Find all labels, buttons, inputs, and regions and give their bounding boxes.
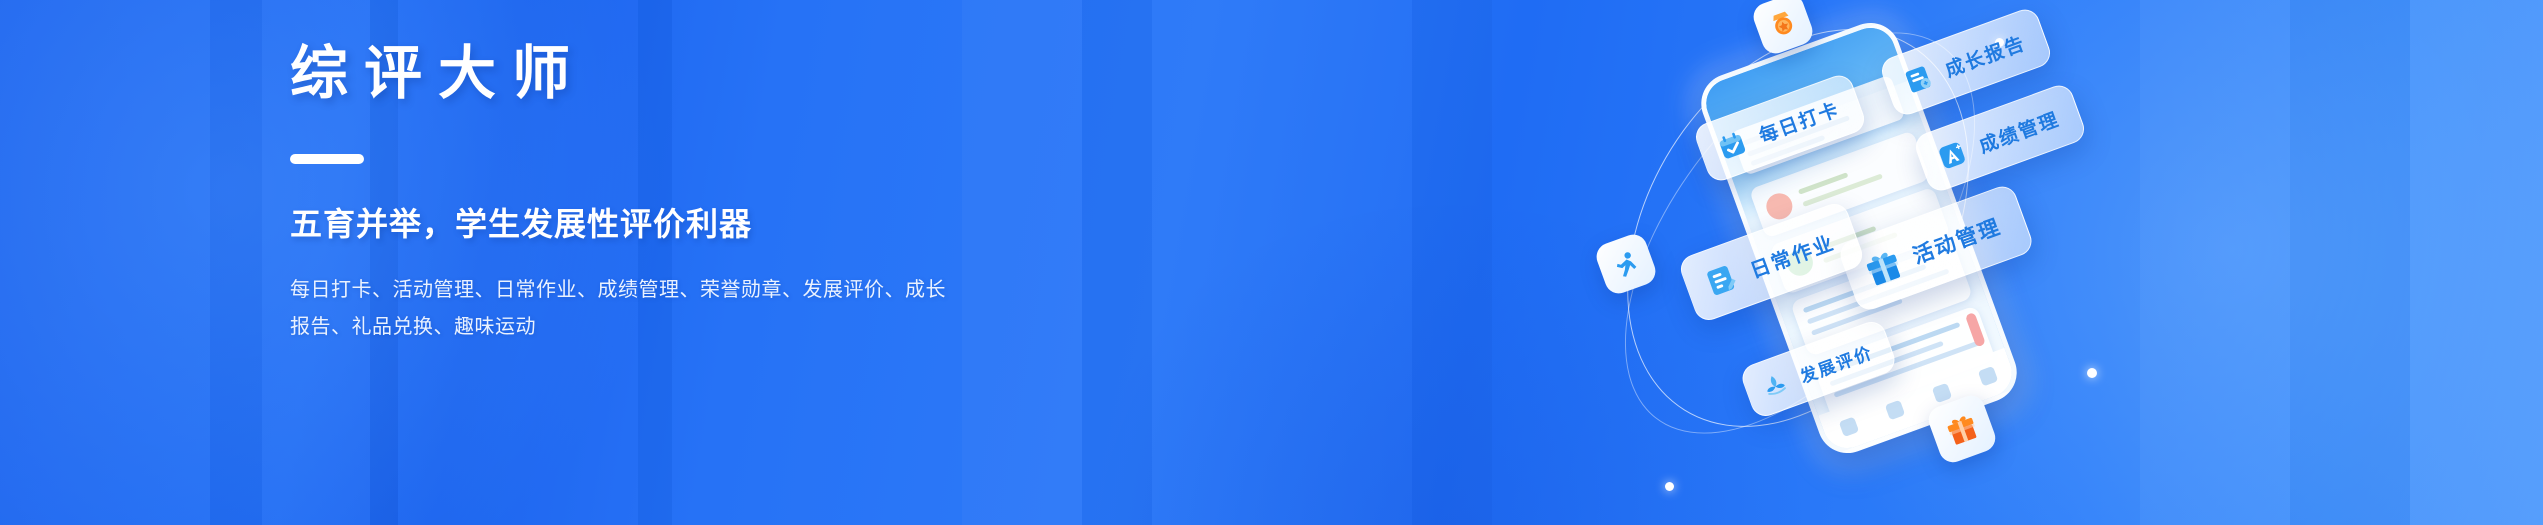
feature-card-label: 发展评价: [1796, 338, 1876, 387]
feature-card-label: 活动管理: [1908, 211, 2005, 271]
feature-card-label: 日常作业: [1745, 226, 1838, 283]
sparkle-dot: [2087, 368, 2097, 378]
description-line-2: 报告、礼品兑换、趣味运动: [290, 309, 850, 346]
description-line-1: 每日打卡、活动管理、日常作业、成绩管理、荣誉勋章、发展评价、成长: [290, 272, 850, 309]
banner-description: 每日打卡、活动管理、日常作业、成绩管理、荣誉勋章、发展评价、成长 报告、礼品兑换…: [290, 272, 850, 346]
hero-illustration: 成长报告 成绩管理: [1545, 0, 2105, 525]
sparkle-dot: [1665, 482, 1674, 491]
banner-subtitle: 五育并举，学生发展性评价利器: [290, 204, 1190, 246]
lotus-flower-icon: [1754, 364, 1795, 405]
feature-card-label: 成绩管理: [1975, 104, 2063, 158]
grade-a-icon: [1929, 132, 1975, 178]
report-document-icon: [1895, 56, 1941, 102]
feature-card-label: 成长报告: [1941, 28, 2029, 82]
calendar-check-icon: [1709, 122, 1755, 168]
running-person-icon: [1603, 241, 1649, 287]
gift-box-orange-icon: [1939, 406, 1985, 452]
page-title: 综评大师: [290, 40, 1190, 108]
honor-medal-icon: [1760, 1, 1806, 47]
banner-copy: 综评大师 五育并举，学生发展性评价利器 每日打卡、活动管理、日常作业、成绩管理、…: [290, 40, 1190, 346]
title-divider: [290, 154, 364, 164]
homework-notes-icon: [1696, 255, 1747, 306]
feature-card-label: 每日打卡: [1755, 94, 1843, 148]
gift-box-icon: [1856, 240, 1910, 294]
hero-banner: 综评大师 五育并举，学生发展性评价利器 每日打卡、活动管理、日常作业、成绩管理、…: [0, 0, 2543, 525]
